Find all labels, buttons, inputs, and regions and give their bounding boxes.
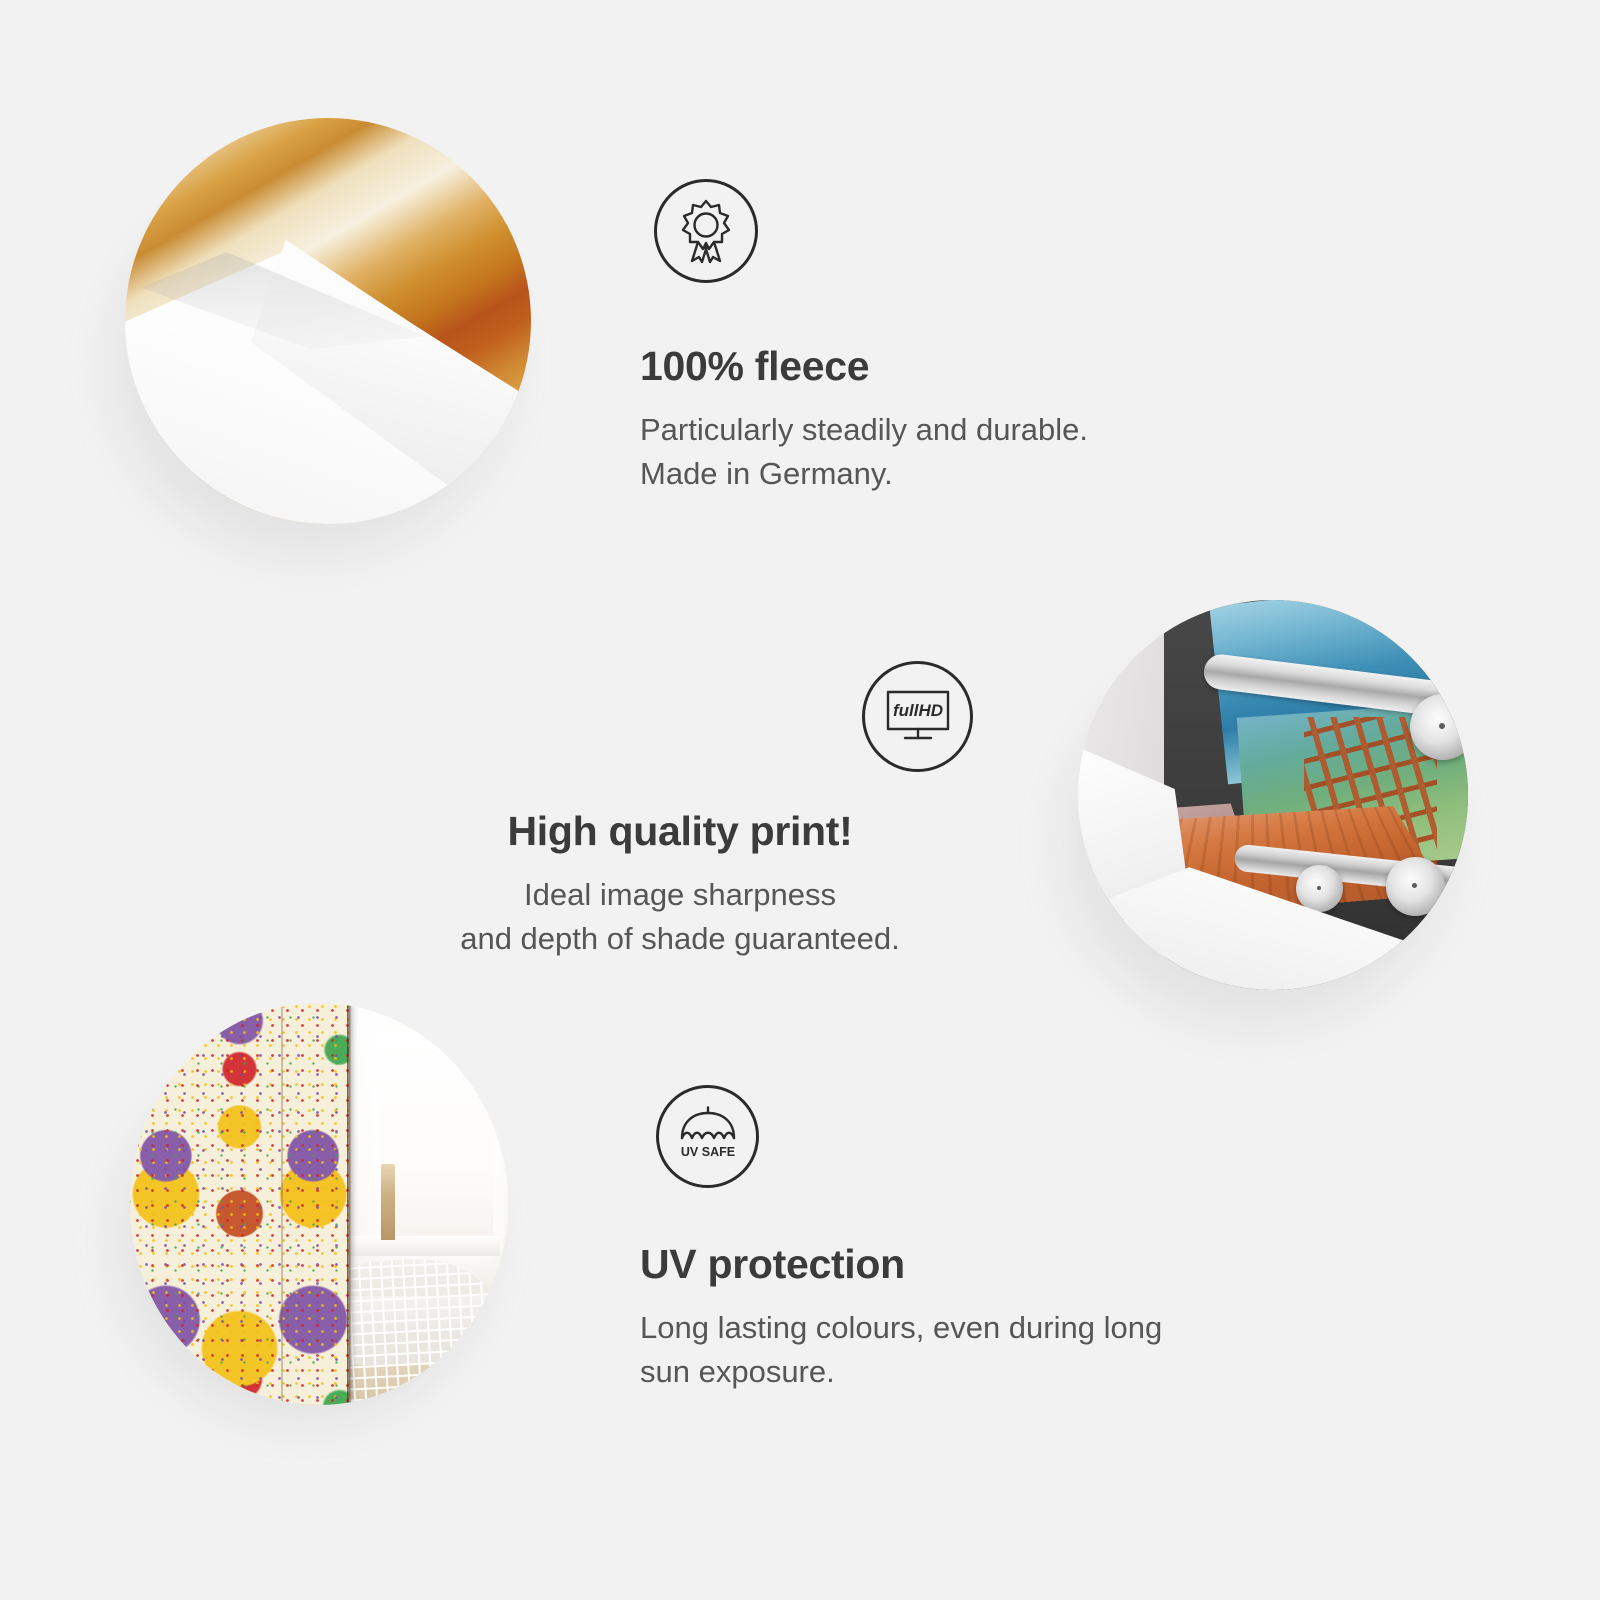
mandala-wallpaper-panel: [130, 1003, 349, 1405]
wallpaper-edge-seam: [347, 1003, 351, 1405]
feature-text-fleece: 100% fleece Particularly steadily and du…: [640, 340, 1260, 496]
printer-scene: [1078, 600, 1468, 990]
fleece-wallpaper-peel-photo: [125, 118, 531, 524]
wallpaper-center-seam: [281, 1003, 283, 1405]
mandala-wallpaper-room-photo: [130, 1003, 508, 1405]
feature-desc-line: Made in Germany.: [640, 452, 1260, 496]
feature-desc-line: Ideal image sharpness: [390, 873, 970, 917]
feature-text-uv: UV protection Long lasting colours, even…: [640, 1238, 1320, 1394]
room-window-sill: [342, 1236, 501, 1256]
svg-text:fullHD: fullHD: [892, 701, 942, 720]
interior-room-scene: [130, 1003, 508, 1405]
fullhd-monitor-icon: fullHD: [862, 661, 973, 772]
feature-desc-fleece: Particularly steadily and durable. Made …: [640, 408, 1260, 496]
feature-title-uv: UV protection: [640, 1238, 1320, 1290]
feature-text-print: High quality print! Ideal image sharpnes…: [390, 805, 970, 961]
infographic-page: 100% fleece Particularly steadily and du…: [0, 0, 1600, 1600]
large-format-printer-photo: [1078, 600, 1468, 990]
feature-title-print: High quality print!: [390, 805, 970, 857]
printer-wheel: [1296, 865, 1343, 912]
feature-desc-line: Long lasting colours, even during long: [640, 1306, 1320, 1350]
award-ribbon-icon: [654, 179, 758, 283]
printer-wheel: [1386, 857, 1445, 916]
feature-title-fleece: 100% fleece: [640, 340, 1260, 392]
feature-desc-line: sun exposure.: [640, 1350, 1320, 1394]
feature-desc-uv: Long lasting colours, even during long s…: [640, 1306, 1320, 1394]
feature-desc-print: Ideal image sharpness and depth of shade…: [390, 873, 970, 961]
feature-desc-line: Particularly steadily and durable.: [640, 408, 1260, 452]
feature-desc-line: and depth of shade guaranteed.: [390, 917, 970, 961]
uv-safe-umbrella-icon: UV SAFE: [656, 1085, 759, 1188]
svg-text:UV SAFE: UV SAFE: [680, 1145, 734, 1159]
candlestick: [381, 1164, 394, 1240]
room-window: [380, 1035, 493, 1252]
